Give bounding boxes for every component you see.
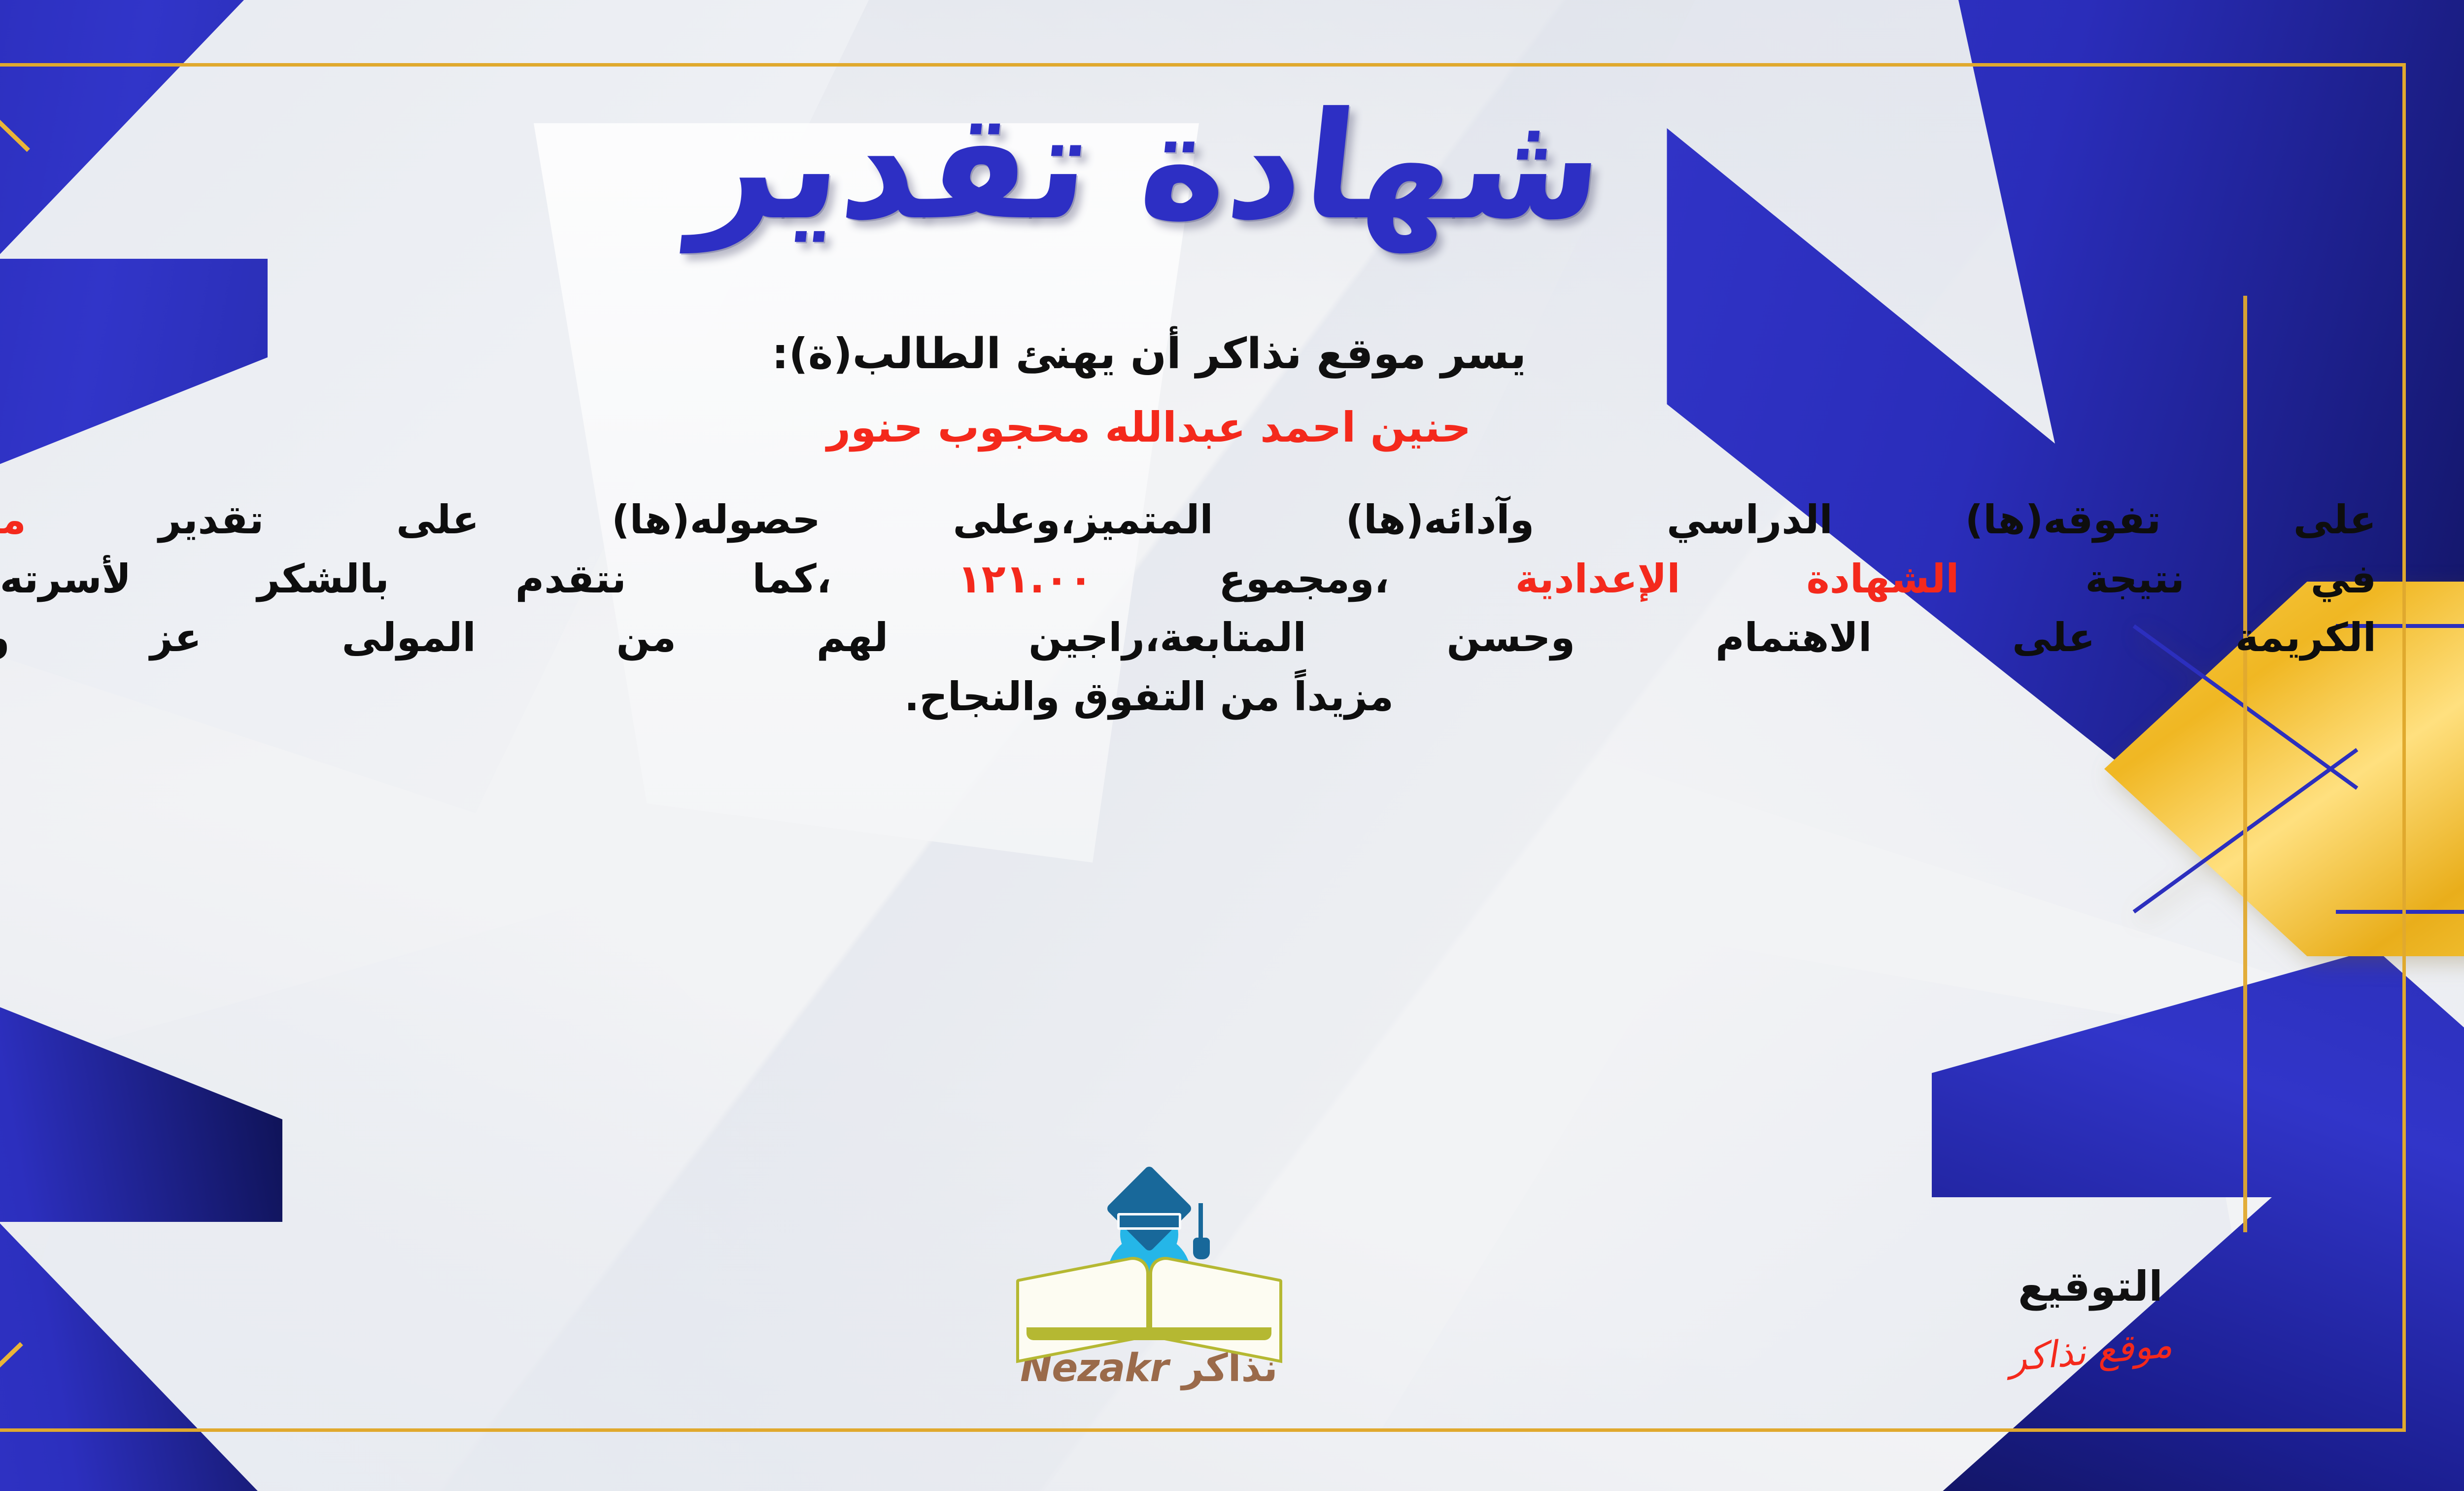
body-line-2-mid: ،ومجموع: [1219, 556, 1389, 602]
body-line-2-prefix: في نتيجة: [2085, 556, 2376, 602]
total-score-value: ١٢١.٠٠: [958, 556, 1093, 602]
exam-name: الشهادة الإعدادية: [1515, 556, 1959, 602]
grade-value: ممتاز: [0, 497, 26, 543]
certificate-canvas: شهادة تقدير يسر موقع نذاكر أن يهنئ الطال…: [0, 0, 2464, 1491]
book-spine: [1027, 1327, 1271, 1340]
signature-block: التوقيع موقع نذاكر: [1903, 1262, 2278, 1373]
graduation-cap-band: [1117, 1213, 1181, 1230]
brand-logo: نذاكر Nezakr: [962, 1175, 1336, 1390]
body-line-1-text: على تفوقه(ها) الدراسي وآدائه(ها) المتميز…: [159, 497, 2376, 543]
intro-line: يسر موقع نذاكر أن يهنئ الطالب(ة):: [0, 329, 2406, 379]
body-line-4: مزيداً من التفوق والنجاح.: [0, 669, 2376, 725]
certificate-body: على تفوقه(ها) الدراسي وآدائه(ها) المتميز…: [0, 492, 2376, 728]
student-name: حنين احمد عبدالله محجوب حنور: [0, 403, 2406, 451]
signature-handwriting: موقع نذاكر: [1902, 1314, 2279, 1389]
body-line-2-suffix: ،كما نتقدم بالشكر لأسرته(ها): [0, 556, 831, 602]
body-line-1: على تفوقه(ها) الدراسي وآدائه(ها) المتميز…: [0, 492, 2376, 548]
body-line-3: الكريمة على الاهتمام وحسن المتابعة،راجين…: [0, 610, 2376, 666]
body-line-2: في نتيجة الشهادة الإعدادية ،ومجموع ١٢١.٠…: [0, 551, 2376, 607]
certificate-content: شهادة تقدير يسر موقع نذاكر أن يهنئ الطال…: [0, 63, 2406, 1432]
signature-label: التوقيع: [1903, 1262, 2278, 1311]
certificate-title: شهادة تقدير: [0, 93, 2414, 241]
logo-mark: [1016, 1175, 1282, 1337]
open-book-icon: [1016, 1234, 1282, 1337]
